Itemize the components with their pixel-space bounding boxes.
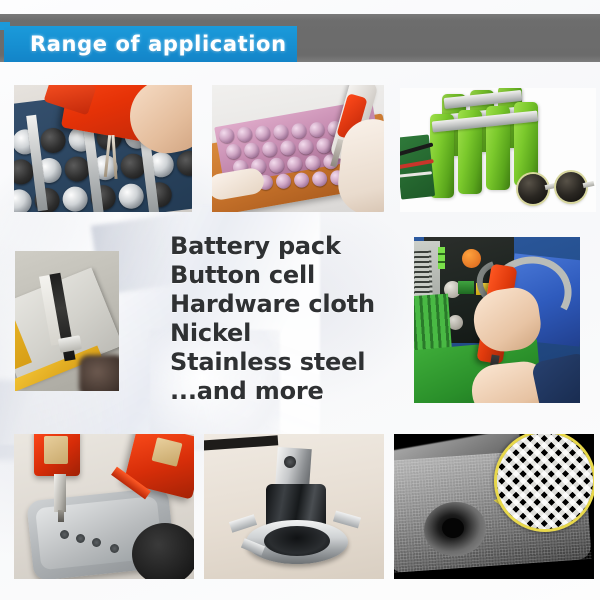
photo-wire-mesh-roll — [394, 434, 594, 579]
application-item-5: ...and more — [170, 377, 400, 406]
shadow-blob — [79, 355, 119, 391]
photo-welding-metal-phone-frame — [14, 434, 194, 579]
application-item-0: Battery pack — [170, 232, 400, 261]
stem-hole — [284, 456, 296, 468]
photo-spot-welding-cylindrical-cell-pack — [14, 85, 192, 212]
photo-cell-array-orange-tray — [212, 85, 384, 212]
application-item-2: Hardware cloth — [170, 290, 400, 319]
green-fixture-comb — [414, 294, 452, 353]
frame-hole — [110, 544, 119, 553]
dark-mat — [132, 523, 194, 579]
mesh-weave-detail — [494, 434, 594, 532]
application-item-1: Button cell — [170, 261, 400, 290]
welding-tool-tip — [58, 510, 64, 522]
header-banner: Range of application — [4, 26, 297, 62]
frame-hole — [76, 534, 85, 543]
photo-lithium-pouch-cell — [15, 251, 119, 391]
roll-core-hole — [442, 518, 464, 538]
application-list: Battery pack Button cell Hardware cloth … — [170, 232, 400, 406]
photo-green-18650-battery-pack — [400, 88, 596, 212]
mesh-magnifier-inset — [494, 434, 594, 532]
welding-tool-window — [44, 436, 68, 464]
indicator-leds — [438, 247, 445, 269]
application-item-3: Nickel — [170, 319, 400, 348]
button-cell — [556, 172, 586, 202]
button-cell — [518, 174, 548, 204]
application-item-4: Stainless steel — [170, 348, 400, 377]
welding-tool-shaft — [54, 474, 66, 512]
frame-hole — [60, 530, 69, 539]
application-range-poster: Range of application — [0, 0, 600, 600]
photo-operator-welding-pcb — [414, 237, 580, 403]
photo-chrome-bulb-base — [204, 434, 384, 579]
page-title: Range of application — [30, 32, 287, 56]
bulb-flange-inner — [264, 526, 330, 556]
orange-knob — [462, 249, 481, 268]
frame-hole — [92, 538, 101, 547]
green-terminal-block — [458, 281, 474, 294]
